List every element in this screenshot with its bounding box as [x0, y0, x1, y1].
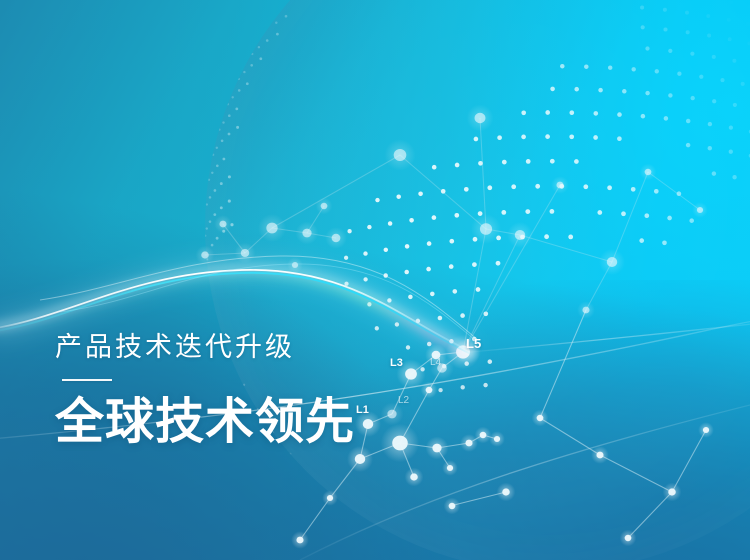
headline-block: 产品技术迭代升级 全球技术领先: [55, 334, 355, 447]
banner-title: 全球技术领先: [55, 398, 355, 447]
glowing-light-wave: [0, 0, 750, 560]
banner-canvas: L1L2L3L4L5 产品技术迭代升级 全球技术领先: [0, 0, 750, 560]
banner-subtitle: 产品技术迭代升级: [55, 334, 355, 361]
title-divider: [62, 379, 112, 381]
